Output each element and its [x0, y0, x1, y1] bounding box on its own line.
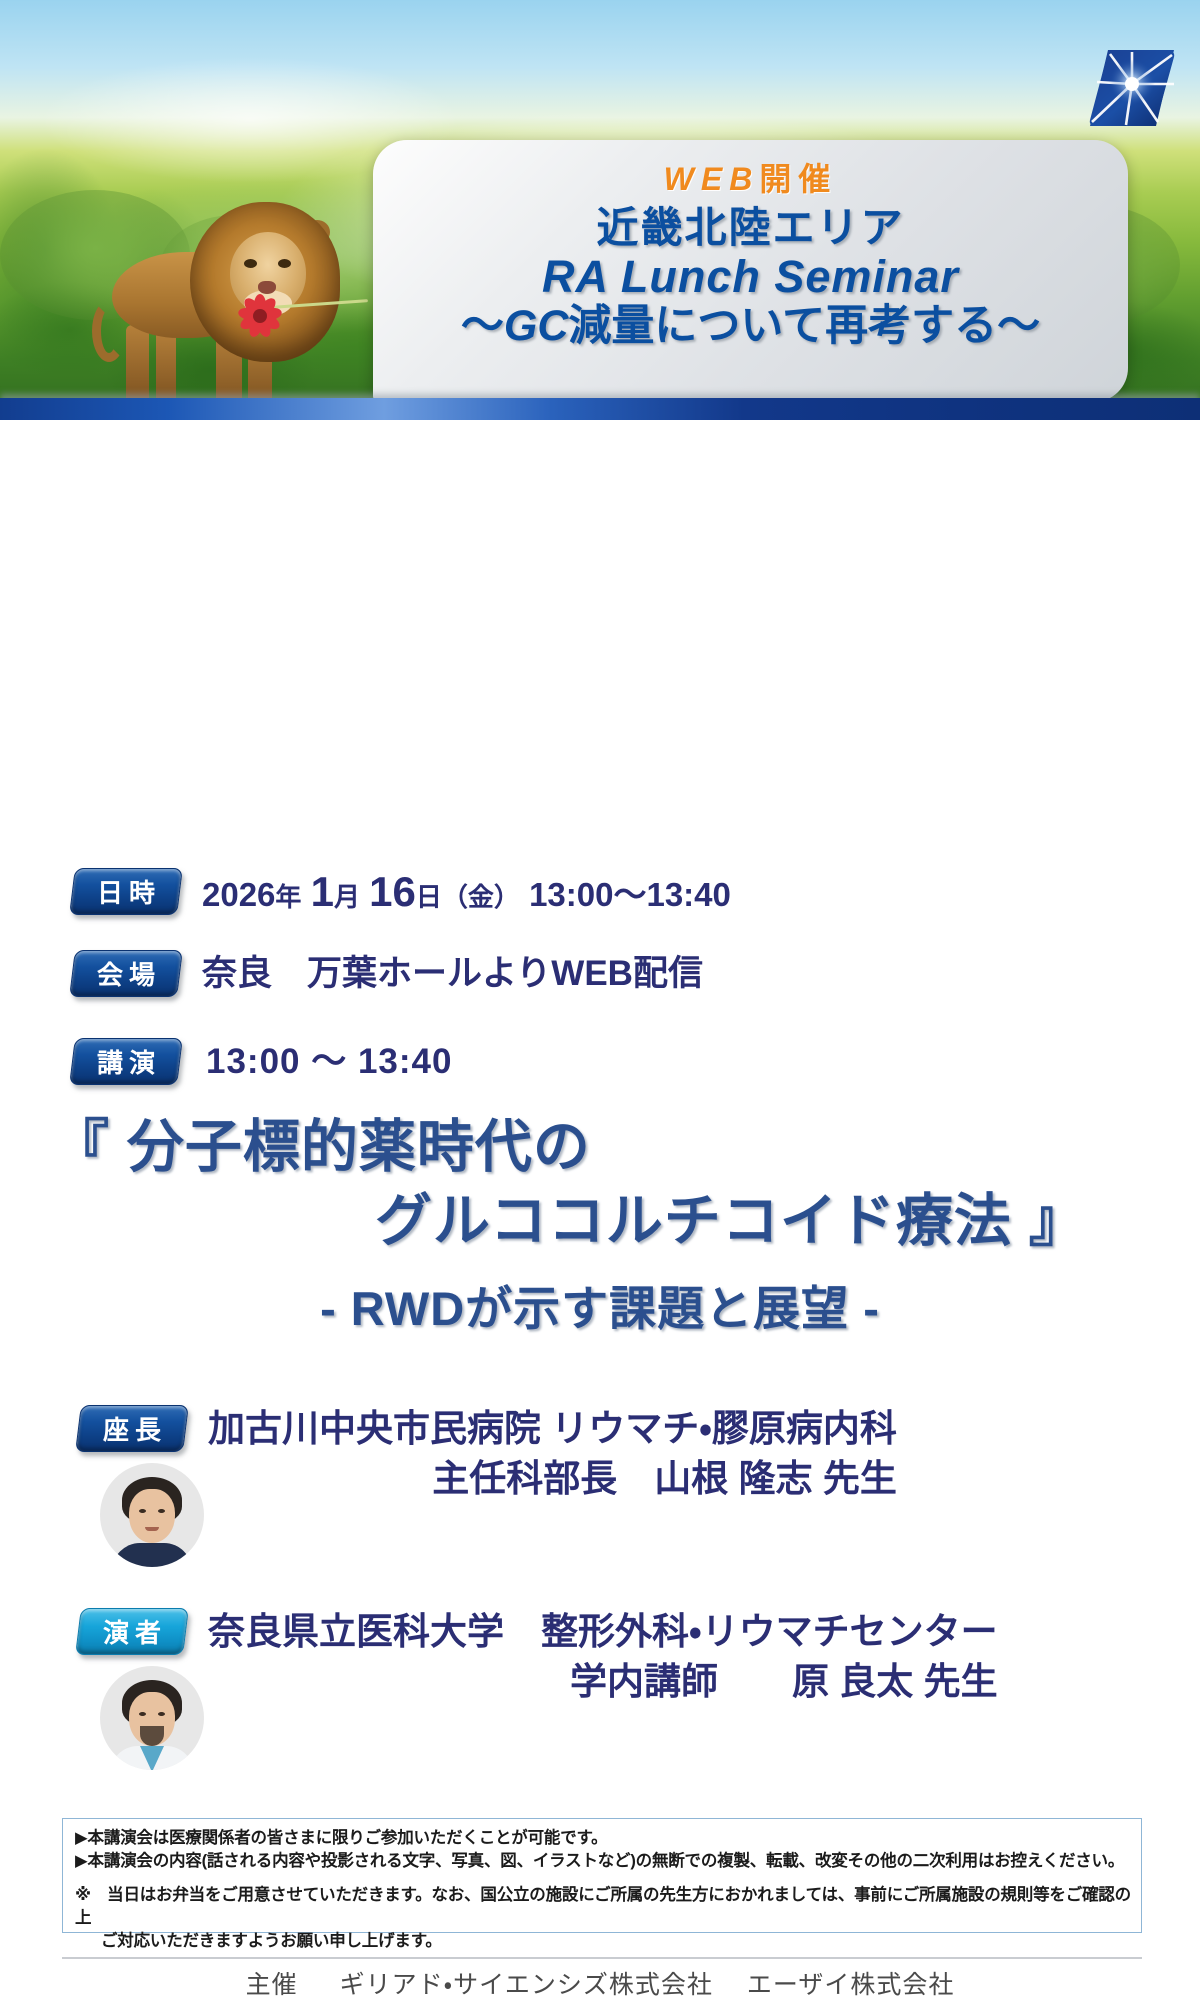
datetime-year-unit: 年	[275, 882, 301, 912]
badge-datetime-label: 日時	[91, 873, 161, 910]
notes-box: ▶本講演会は医療関係者の皆さまに限りご参加いただくことが可能です。 ▶本講演会の…	[62, 1818, 1142, 1933]
note-bullet-2: ▶本講演会の内容(話される内容や投影される文字、写真、図、イラストなど)の無断で…	[75, 1850, 1131, 1873]
hero-banner: WEB開催 近畿北陸エリア RA Lunch Seminar 〜GC減量について…	[0, 0, 1200, 420]
badge-chairperson: 座長	[75, 1405, 189, 1452]
lion-leg	[126, 325, 149, 403]
chairperson-text: 加古川中央市民病院 リウマチ・膠原病内科 主任科部長 山根 隆志 先生	[208, 1405, 897, 1505]
lecture-title-line2: グルココルチコイド療法 』	[0, 1184, 1200, 1258]
avatar-eye	[139, 1712, 146, 1716]
chairperson-name: 主任科部長 山根 隆志 先生	[208, 1453, 897, 1505]
red-flower-icon	[236, 292, 284, 340]
lecture-time-value: 13:00 〜 13:40	[206, 1038, 452, 1085]
lecture-row: 講演 13:00 〜 13:40	[72, 1038, 452, 1085]
datetime-weekday: （金）	[442, 882, 520, 912]
datetime-day: 16	[369, 868, 416, 915]
area-title: 近畿北陸エリア	[373, 204, 1128, 252]
datetime-year: 2026	[202, 876, 275, 913]
chairperson-affiliation: 加古川中央市民病院 リウマチ・膠原病内科	[208, 1405, 897, 1453]
note-bullet-1: ▶本講演会は医療関係者の皆さまに限りご参加いただくことが可能です。	[75, 1827, 1131, 1850]
lion-illustration	[108, 180, 338, 410]
avatar-eye	[158, 1509, 165, 1513]
subtitle-prefix: 〜	[461, 302, 504, 350]
badge-speaker-label: 演者	[97, 1613, 167, 1650]
seminar-title-panel: WEB開催 近畿北陸エリア RA Lunch Seminar 〜GC減量について…	[373, 140, 1128, 402]
seminar-subtitle: 〜GC減量について再考する〜	[373, 302, 1128, 350]
speaker-photo	[100, 1666, 204, 1770]
speaker-block: 演者 奈良県立医科大学 整形外科・リウマチセンター 学内講師 原 良太 先生	[78, 1608, 1178, 1708]
host-label: 主催	[246, 1971, 298, 1999]
datetime-day-unit: 日	[416, 882, 442, 912]
subtitle-gc: GC	[504, 302, 569, 350]
lecture-title-block: 『 分子標的薬時代の グルココルチコイド療法 』 - RWDが示す課題と展望 -	[0, 1110, 1200, 1344]
badge-venue-label: 会場	[91, 955, 161, 992]
badge-lecture: 講演	[69, 1038, 183, 1085]
note-asterisk-2: ご対応いただきますようお願い申し上げます。	[75, 1930, 1131, 1953]
avatar-mouth	[145, 1527, 159, 1531]
lecture-title-line1: 『 分子標的薬時代の	[0, 1110, 1200, 1184]
speaker-affiliation: 奈良県立医科大学 整形外科・リウマチセンター	[208, 1608, 998, 1656]
badge-chairperson-label: 座長	[97, 1410, 167, 1447]
lion-eye	[244, 259, 257, 268]
avatar-shoulders	[112, 1543, 192, 1567]
avatar-eye	[139, 1509, 146, 1513]
badge-datetime: 日時	[69, 868, 183, 915]
datetime-month-unit: 月	[334, 882, 360, 912]
note-asterisk-1: ※ 当日はお弁当をご用意させていただきます。なお、国公立の施設にご所属の先生方に…	[75, 1884, 1131, 1930]
badge-lecture-label: 講演	[91, 1043, 161, 1080]
lecture-subtitle-line: - RWDが示す課題と展望 -	[0, 1274, 1200, 1344]
subtitle-rest: 減量について再考する〜	[568, 302, 1040, 350]
kaisai-label: 開催	[759, 161, 837, 197]
avatar-face	[129, 1489, 175, 1543]
badge-speaker: 演者	[75, 1608, 189, 1655]
speaker-text: 奈良県立医科大学 整形外科・リウマチセンター 学内講師 原 良太 先生	[208, 1608, 998, 1708]
host-company-1: ギリアド・サイエンシズ株式会社	[340, 1971, 713, 1999]
web-label: WEB	[664, 161, 760, 197]
datetime-row: 日時 2026年 1月 16日（金） 13:00〜13:40	[72, 868, 731, 921]
lion-leg	[156, 330, 176, 402]
hero-bottom-bar	[0, 398, 1200, 420]
speaker-name: 学内講師 原 良太 先生	[208, 1656, 998, 1708]
footer-hosts: 主催ギリアド・サイエンシズ株式会社エーザイ株式会社	[0, 1965, 1200, 2001]
avatar-eye	[158, 1712, 165, 1716]
datetime-value: 2026年 1月 16日（金） 13:00〜13:40	[202, 868, 731, 921]
eisai-logo	[1086, 42, 1178, 134]
datetime-time-range: 13:00〜13:40	[529, 876, 731, 913]
datetime-month: 1	[311, 868, 334, 915]
seminar-title: RA Lunch Seminar	[373, 252, 1128, 302]
venue-row: 会場 奈良 万葉ホールよりWEB配信	[72, 950, 703, 997]
lion-eye	[278, 259, 291, 268]
web-kaisai-label: WEB開催	[373, 154, 1128, 200]
chairperson-block: 座長 加古川中央市民病院 リウマチ・膠原病内科 主任科部長 山根 隆志 先生	[78, 1405, 1178, 1505]
host-company-2: エーザイ株式会社	[747, 1971, 955, 1999]
badge-venue: 会場	[69, 950, 183, 997]
eisai-logo-icon	[1086, 42, 1178, 134]
chairperson-photo	[100, 1463, 204, 1567]
footer-divider	[62, 1957, 1142, 1959]
venue-value: 奈良 万葉ホールよりWEB配信	[202, 950, 703, 997]
